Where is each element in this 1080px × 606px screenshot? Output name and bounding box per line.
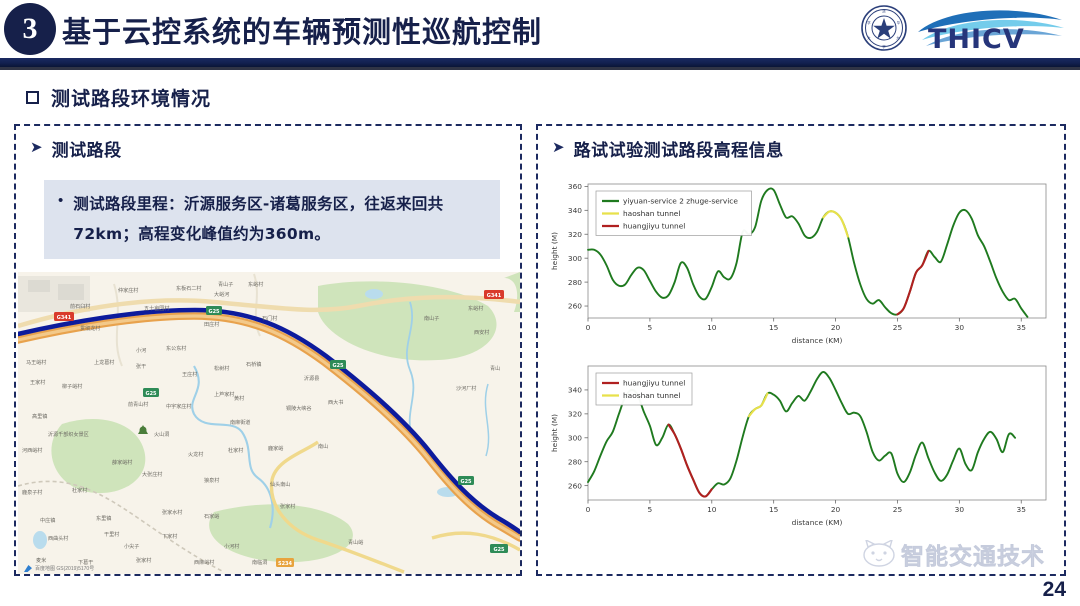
svg-text:0: 0 [586, 505, 591, 514]
svg-text:张干: 张干 [136, 363, 146, 370]
svg-text:300: 300 [568, 254, 582, 263]
svg-text:田庄村: 田庄村 [204, 321, 219, 328]
svg-text:沂源县: 沂源县 [304, 375, 319, 382]
header-divider [0, 58, 1080, 67]
svg-text:G25: G25 [145, 391, 157, 397]
slide-header: 3 基于云控系统的车辆预测性巡航控制 清 华 大 学 大 学 THICV [0, 0, 1080, 60]
svg-text:大张庄村: 大张庄村 [142, 471, 162, 478]
svg-text:340: 340 [568, 386, 582, 395]
svg-text:石家峪: 石家峪 [204, 513, 219, 520]
svg-text:小河村: 小河村 [224, 543, 239, 550]
svg-text:G341: G341 [57, 315, 72, 321]
square-bullet-icon [26, 91, 39, 104]
svg-text:下家村: 下家村 [162, 533, 177, 540]
svg-text:东板石二村: 东板石二村 [176, 285, 201, 292]
svg-text:5: 5 [648, 505, 653, 514]
bullet-dot-icon: • [52, 189, 63, 249]
svg-text:南临洞: 南临洞 [252, 559, 267, 566]
svg-text:huangjiyu tunnel: huangjiyu tunnel [623, 379, 685, 388]
svg-text:鹿泉子村: 鹿泉子村 [22, 489, 42, 496]
svg-text:300: 300 [568, 433, 582, 442]
svg-text:中宇家庄村: 中宇家庄村 [166, 403, 191, 410]
elevation-chart-outbound: 05101520253035260280300320340360distance… [548, 176, 1058, 348]
svg-text:薛家峪村: 薛家峪村 [112, 459, 132, 466]
page-title: 基于云控系统的车辆预测性巡航控制 [62, 8, 542, 52]
svg-text:东峪村: 东峪村 [248, 281, 263, 288]
svg-text:王家村: 王家村 [30, 379, 45, 386]
arrow-right-icon: ➤ [552, 140, 565, 155]
svg-text:前石臼村: 前石臼村 [70, 303, 90, 310]
svg-text:沂源千部织女景区: 沂源千部织女景区 [48, 431, 89, 438]
svg-text:东里镇: 东里镇 [96, 515, 111, 522]
svg-text:5: 5 [648, 323, 653, 332]
svg-text:260: 260 [568, 481, 582, 490]
svg-text:黄村: 黄村 [234, 395, 244, 402]
left-panel: ➤ 测试路段 • 测试路段里程：沂源服务区-诸葛服务区，往返来回共72km；高程… [14, 124, 522, 576]
svg-text:马王峪村: 马王峪村 [26, 359, 46, 366]
svg-text:distance (KM): distance (KM) [792, 518, 843, 527]
svg-text:火山洞: 火山洞 [154, 431, 169, 438]
svg-text:15: 15 [769, 505, 779, 514]
svg-text:30: 30 [955, 505, 965, 514]
svg-text:大: 大 [867, 35, 871, 40]
baidu-logo-icon [24, 565, 32, 572]
svg-text:0: 0 [586, 323, 591, 332]
svg-text:260: 260 [568, 302, 582, 311]
svg-text:G25: G25 [460, 479, 472, 485]
left-panel-header: ➤ 测试路段 [16, 126, 520, 161]
right-panel: ➤ 路试试验测试路段高程信息 0510152025303526028030032… [536, 124, 1066, 576]
svg-text:25: 25 [893, 505, 903, 514]
svg-text:280: 280 [568, 278, 582, 287]
svg-text:20: 20 [831, 323, 841, 332]
svg-text:柳子峪村: 柳子峪村 [62, 383, 82, 390]
svg-text:麦米: 麦米 [36, 557, 46, 564]
svg-text:huangjiyu tunnel: huangjiyu tunnel [623, 222, 685, 231]
svg-text:石门村: 石门村 [262, 315, 277, 322]
svg-text:南山子: 南山子 [424, 315, 439, 322]
svg-text:火龙村: 火龙村 [188, 451, 203, 458]
svg-text:上芦家村: 上芦家村 [214, 391, 234, 398]
svg-text:张家村: 张家村 [136, 557, 151, 564]
route-map-image[interactable]: G341 G341 G25 G25 G25 G25 S234 G25 [18, 272, 520, 574]
svg-text:G25: G25 [493, 547, 505, 553]
svg-text:20: 20 [831, 505, 841, 514]
map-attribution-text: 百度地图 GS(2019)5170号 [35, 565, 94, 572]
svg-text:35: 35 [1017, 323, 1027, 332]
svg-text:南山: 南山 [318, 443, 328, 450]
svg-text:35: 35 [1017, 505, 1027, 514]
svg-text:高里镇: 高里镇 [32, 413, 47, 420]
svg-text:G25: G25 [332, 363, 344, 369]
svg-text:西大书: 西大书 [328, 399, 343, 406]
svg-text:10: 10 [707, 505, 717, 514]
svg-text:height (M): height (M) [550, 232, 559, 270]
svg-text:haoshan tunnel: haoshan tunnel [623, 391, 680, 400]
svg-text:贯彻龙村: 贯彻龙村 [80, 325, 100, 332]
svg-text:340: 340 [568, 206, 582, 215]
svg-text:东公东村: 东公东村 [166, 345, 186, 352]
svg-text:distance (KM): distance (KM) [792, 336, 843, 345]
svg-text:G25: G25 [208, 309, 220, 315]
svg-text:王庄村: 王庄村 [182, 371, 197, 378]
test-route-callout: • 测试路段里程：沂源服务区-诸葛服务区，往返来回共72km；高程变化峰值约为3… [44, 180, 500, 259]
svg-text:青山子: 青山子 [218, 281, 233, 288]
svg-text:25: 25 [893, 323, 903, 332]
svg-text:张家村: 张家村 [280, 503, 295, 510]
svg-text:30: 30 [955, 323, 965, 332]
svg-text:S234: S234 [278, 561, 293, 567]
svg-text:haoshan tunnel: haoshan tunnel [623, 209, 680, 218]
svg-text:东峪村: 东峪村 [468, 305, 483, 312]
elevation-chart-outbound-svg: 05101520253035260280300320340360distance… [548, 176, 1058, 348]
svg-text:西安村: 西安村 [474, 329, 489, 336]
test-route-description: 测试路段里程：沂源服务区-诸葛服务区，往返来回共72km；高程变化峰值约为360… [73, 189, 492, 249]
svg-text:中庄镇: 中庄镇 [40, 517, 55, 524]
right-panel-title: 路试试验测试路段高程信息 [574, 136, 784, 161]
svg-text:320: 320 [568, 230, 582, 239]
elevation-chart-return-svg: 05101520253035260280300320340distance (K… [548, 358, 1058, 530]
svg-text:小河: 小河 [136, 347, 146, 354]
svg-text:小尖子: 小尖子 [124, 543, 139, 550]
svg-text:仲家庄村: 仲家庄村 [118, 287, 138, 294]
svg-text:铜陵大峡谷: 铜陵大峡谷 [286, 405, 311, 412]
svg-text:大峪河: 大峪河 [214, 291, 229, 298]
left-panel-title: 测试路段 [52, 136, 122, 161]
section-heading: 测试路段环境情况 [26, 84, 211, 111]
svg-text:沙河厂村: 沙河厂村 [456, 385, 476, 392]
svg-text:280: 280 [568, 457, 582, 466]
section-heading-label: 测试路段环境情况 [51, 84, 211, 111]
svg-text:石桥镇: 石桥镇 [246, 361, 261, 368]
svg-text:杜家村: 杜家村 [228, 447, 243, 454]
svg-text:青山峪: 青山峪 [348, 539, 363, 546]
svg-text:五十亩园村: 五十亩园村 [144, 305, 169, 312]
svg-text:学: 学 [867, 20, 871, 25]
svg-text:前青山村: 前青山村 [128, 401, 148, 408]
svg-text:干里村: 干里村 [104, 531, 119, 538]
svg-text:杜家村: 杜家村 [72, 487, 87, 494]
svg-text:10: 10 [707, 323, 717, 332]
svg-text:河西峪村: 河西峪村 [22, 447, 42, 454]
header-divider-shadow [0, 67, 1080, 70]
svg-text:松树村: 松树村 [214, 365, 229, 372]
svg-text:南麻街道: 南麻街道 [230, 419, 250, 426]
svg-text:张家水村: 张家水村 [162, 509, 182, 516]
svg-text:鹿家峪: 鹿家峪 [268, 445, 283, 452]
svg-text:上龙葛村: 上龙葛村 [94, 359, 114, 366]
arrow-right-icon: ➤ [30, 140, 43, 155]
svg-text:yiyuan-service 2 zhuge-service: yiyuan-service 2 zhuge-service [623, 197, 738, 206]
svg-text:15: 15 [769, 323, 779, 332]
svg-text:360: 360 [568, 182, 582, 191]
svg-text:狼泉村: 狼泉村 [204, 477, 219, 484]
map-attribution: 百度地图 GS(2019)5170号 [24, 565, 94, 572]
elevation-chart-return: 05101520253035260280300320340distance (K… [548, 358, 1058, 530]
svg-text:西麻峪村: 西麻峪村 [194, 559, 214, 566]
section-number-badge: 3 [4, 3, 56, 55]
svg-text:仙头南山: 仙头南山 [270, 481, 290, 488]
tsinghua-seal-icon: 清 华 大 学 大 学 [860, 4, 908, 52]
svg-text:height (M): height (M) [550, 414, 559, 452]
svg-text:华: 华 [897, 20, 901, 25]
svg-text:320: 320 [568, 410, 582, 419]
svg-text:THICV: THICV [928, 24, 1025, 52]
svg-text:G341: G341 [487, 293, 502, 299]
thicv-logo: THICV [912, 4, 1072, 52]
svg-text:西曲头村: 西曲头村 [48, 535, 68, 542]
page-number: 24 [1043, 578, 1066, 602]
svg-text:青山: 青山 [490, 365, 500, 372]
right-panel-header: ➤ 路试试验测试路段高程信息 [538, 126, 1064, 161]
